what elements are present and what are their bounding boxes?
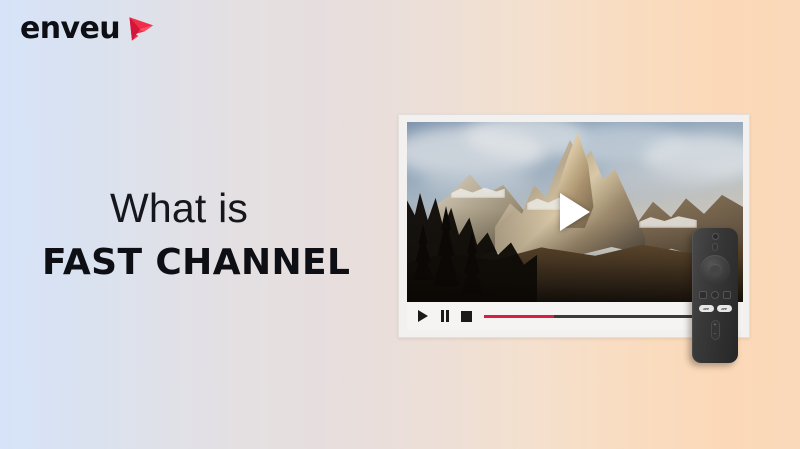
power-button-icon[interactable] (712, 233, 719, 240)
progress-fill (484, 315, 554, 318)
ok-button-icon[interactable] (709, 264, 722, 277)
play-button[interactable] (416, 309, 429, 323)
app-shortcut-button[interactable]: APP (717, 305, 732, 312)
app-shortcut-button[interactable]: APP (699, 305, 714, 312)
stop-icon (461, 311, 472, 322)
headline-line-1: What is (42, 186, 372, 232)
brand-name: enveu (20, 14, 120, 44)
home-button-icon[interactable] (711, 291, 719, 299)
remote-app-buttons: APP APP (699, 305, 732, 312)
remote-button-row (699, 291, 731, 299)
back-button-icon[interactable] (723, 291, 731, 299)
volume-up-label: + (714, 323, 717, 328)
pause-icon (440, 310, 450, 322)
stop-button[interactable] (460, 309, 473, 323)
microphone-icon[interactable] (712, 243, 718, 251)
pause-button[interactable] (438, 309, 451, 323)
volume-rocker[interactable]: + − (711, 320, 720, 340)
play-triangle-icon (560, 193, 590, 231)
headline-block: What is FAST CHANNEL (42, 186, 372, 285)
progress-bar[interactable] (484, 315, 710, 318)
headline-line-2: FAST CHANNEL (42, 240, 372, 285)
volume-down-label: − (714, 332, 717, 337)
brand-logo[interactable]: enveu (20, 11, 156, 47)
dpad-ring-icon[interactable] (700, 255, 730, 285)
guide-button-icon[interactable] (699, 291, 707, 299)
tv-remote-control[interactable]: APP APP + − (692, 228, 738, 363)
play-overlay-button[interactable] (555, 190, 595, 234)
banner-root: enveu What is FAST CHANNEL (0, 0, 800, 449)
arrow-dart-icon (126, 14, 156, 44)
play-icon (418, 310, 428, 322)
